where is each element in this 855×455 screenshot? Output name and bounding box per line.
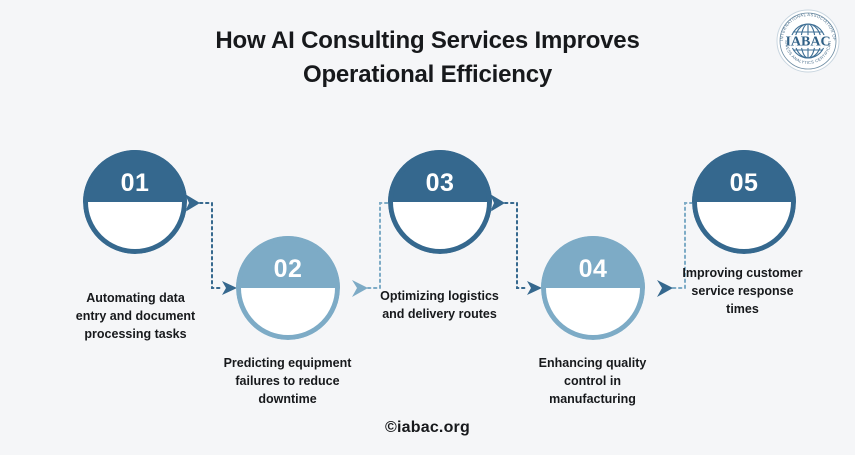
step-05-circle[interactable]: 05 [692, 150, 796, 254]
iabac-logo-icon: IABAC INTERNATIONAL ASSOCIATION OF BUSIN… [775, 8, 841, 74]
step-02-caption-line-2: failures to reduce [200, 373, 375, 391]
step-01-caption-line-2: entry and document [48, 308, 223, 326]
step-02[interactable]: 02 [236, 236, 340, 340]
step-01-caption-line-1: Automating data [48, 290, 223, 308]
step-02-caption-line-1: Predicting equipment [200, 355, 375, 373]
step-04-caption: Enhancing quality control in manufacturi… [505, 355, 680, 408]
page-title-line-1: How AI Consulting Services Improves [0, 24, 855, 58]
step-03-caption: Optimizing logistics and delivery routes [352, 288, 527, 324]
step-03-caption-line-2: and delivery routes [352, 306, 527, 324]
step-03-caption-line-1: Optimizing logistics [352, 288, 527, 306]
connector-03-04 [490, 194, 542, 295]
step-05-caption: Improving customer service response time… [655, 265, 830, 318]
step-05-caption-line-3: times [655, 301, 830, 319]
step-02-number: 02 [236, 255, 340, 284]
page-title: How AI Consulting Services Improves Oper… [0, 24, 855, 92]
step-03-number: 03 [388, 169, 492, 198]
step-01-caption: Automating data entry and document proce… [48, 290, 223, 343]
step-02-caption-line-3: downtime [200, 391, 375, 409]
step-04-caption-line-1: Enhancing quality [505, 355, 680, 373]
step-05-caption-line-1: Improving customer [655, 265, 830, 283]
connector-01-02 [185, 194, 237, 295]
step-04-caption-line-2: control in [505, 373, 680, 391]
step-02-circle-ring [236, 236, 340, 340]
step-01-circle-ring [83, 150, 187, 254]
step-04-caption-line-3: manufacturing [505, 391, 680, 409]
step-03[interactable]: 03 [388, 150, 492, 254]
step-03-circle-ring [388, 150, 492, 254]
step-01-circle[interactable]: 01 [83, 150, 187, 254]
step-01-number: 01 [83, 169, 187, 198]
step-02-caption: Predicting equipment failures to reduce … [200, 355, 375, 408]
iabac-logo: IABAC INTERNATIONAL ASSOCIATION OF BUSIN… [775, 8, 841, 74]
step-03-circle[interactable]: 03 [388, 150, 492, 254]
step-04-number: 04 [541, 255, 645, 284]
step-04-circle[interactable]: 04 [541, 236, 645, 340]
iabac-logo-center-text: IABAC [785, 35, 830, 50]
step-05-number: 05 [692, 169, 796, 198]
page-title-line-2: Operational Efficiency [0, 58, 855, 92]
step-02-circle[interactable]: 02 [236, 236, 340, 340]
step-05-circle-ring [692, 150, 796, 254]
step-04-circle-ring [541, 236, 645, 340]
step-04[interactable]: 04 [541, 236, 645, 340]
step-01[interactable]: 01 [83, 150, 187, 254]
step-05[interactable]: 05 [692, 150, 796, 254]
step-05-caption-line-2: service response [655, 283, 830, 301]
step-01-caption-line-3: processing tasks [48, 326, 223, 344]
footer-attribution: ©iabac.org [0, 419, 855, 437]
